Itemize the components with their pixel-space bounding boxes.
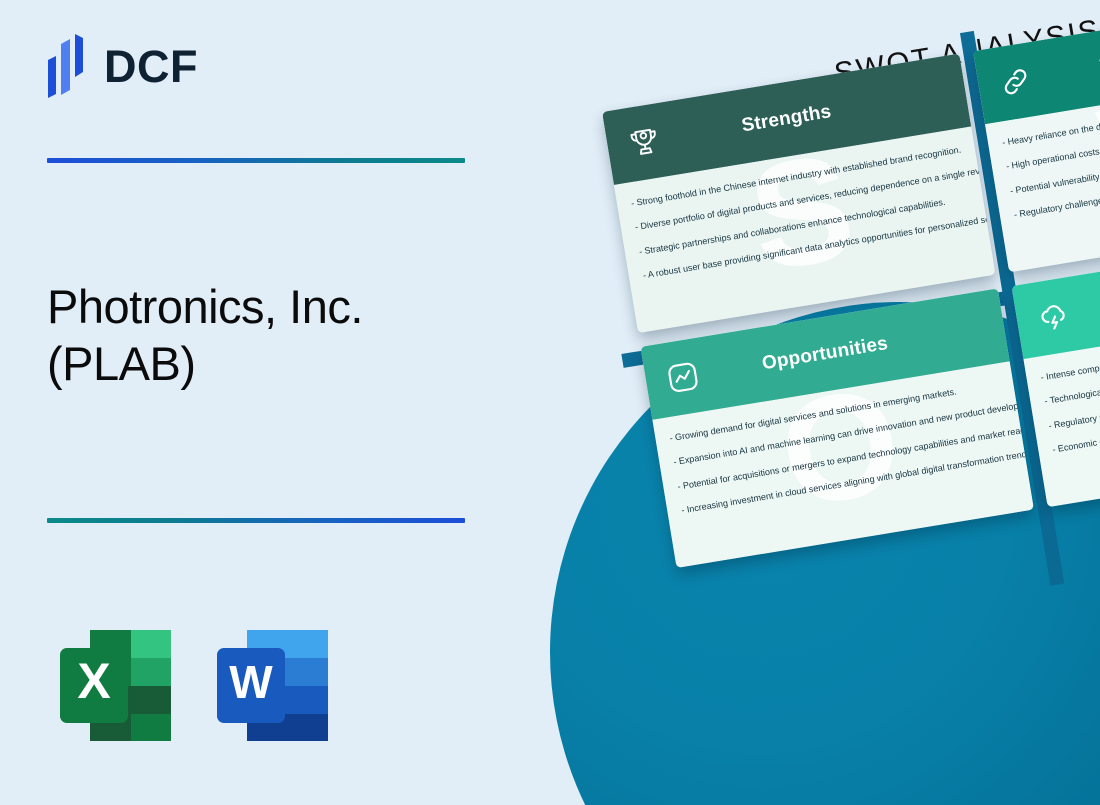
page-title: Photronics, Inc. (PLAB) [47, 278, 517, 393]
cover-left-panel: DCF Photronics, Inc. (PLAB) X [0, 0, 560, 805]
swot-card-opportunities[interactable]: Opportunities O - Growing demand for dig… [640, 288, 1033, 568]
office-icon-group: X W [48, 618, 340, 753]
swot-card-grid: Strengths S - Strong foothold in the Chi… [602, 0, 1100, 582]
swot-illustration: SWOT ANALYSIS Strengths [540, 0, 1100, 805]
link-icon [996, 62, 1035, 101]
excel-icon[interactable]: X [48, 618, 183, 753]
divider-bottom [47, 518, 465, 523]
storm-cloud-icon [1034, 297, 1073, 336]
brand-lockup: DCF [44, 34, 198, 98]
word-icon[interactable]: W [205, 618, 340, 753]
brand-name: DCF [104, 44, 198, 89]
divider-top [47, 158, 465, 163]
dcf-bars-logo [44, 34, 90, 98]
trend-chart-icon [663, 358, 702, 397]
svg-text:W: W [229, 656, 273, 708]
trophy-icon [625, 123, 664, 162]
swot-card-strengths[interactable]: Strengths S - Strong foothold in the Chi… [602, 53, 995, 333]
svg-text:X: X [77, 653, 110, 709]
